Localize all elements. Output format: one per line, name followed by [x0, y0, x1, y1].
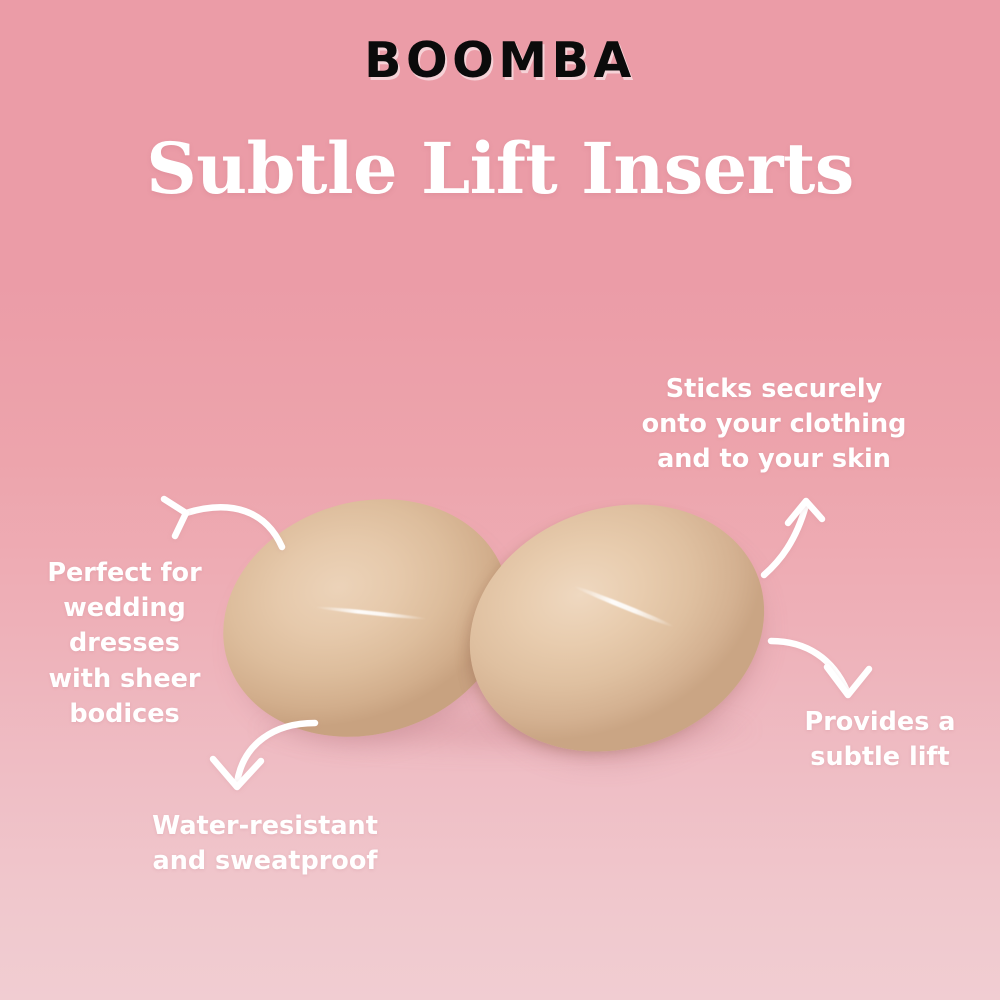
callout-water-resistant: Water-resistant and sweatproof — [110, 809, 420, 879]
arrow-icon — [765, 625, 900, 715]
callout-sticks-securely: Sticks securely onto your clothing and t… — [618, 372, 930, 478]
arrow-icon — [758, 485, 888, 585]
page-title: Subtle Lift Inserts — [0, 132, 1000, 206]
brand-logo: BOOMBA — [0, 36, 1000, 85]
callout-perfect-for-wedding-dresses: Perfect for wedding dresses with sheer b… — [22, 556, 227, 732]
callout-provides-subtle-lift: Provides a subtle lift — [770, 705, 990, 775]
product-marketing-image: BOOMBA Subtle Lift Inserts — [0, 0, 1000, 1000]
